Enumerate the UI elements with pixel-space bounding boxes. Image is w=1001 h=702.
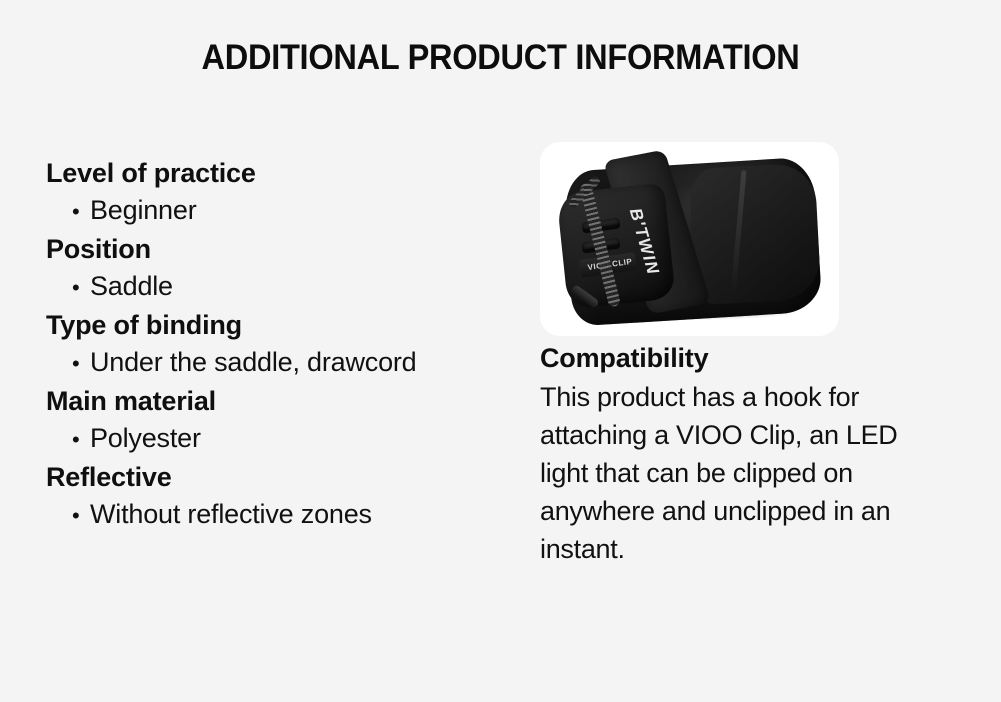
bag-rear-panel (689, 163, 822, 305)
spec-label: Level of practice (46, 155, 541, 191)
bullet-icon: • (72, 421, 90, 459)
spec-value-item: • Under the saddle, drawcord (46, 343, 541, 383)
bullet-icon: • (72, 497, 90, 535)
spec-value-list: • Without reflective zones (46, 495, 541, 535)
spec-group: Type of binding • Under the saddle, draw… (46, 307, 541, 383)
spec-value-list: • Saddle (46, 267, 541, 307)
spec-value-item: • Without reflective zones (46, 495, 541, 535)
spec-value-text: Under the saddle, drawcord (90, 343, 417, 381)
spec-value-text: Beginner (90, 191, 196, 229)
specification-list: Level of practice • Beginner Position • … (46, 155, 541, 535)
spec-group: Level of practice • Beginner (46, 155, 541, 231)
spec-value-item: • Polyester (46, 419, 541, 459)
compatibility-body: This product has a hook for attaching a … (540, 378, 940, 568)
spec-value-list: • Under the saddle, drawcord (46, 343, 541, 383)
spec-label: Reflective (46, 459, 541, 495)
spec-label: Position (46, 231, 541, 267)
spec-value-list: • Beginner (46, 191, 541, 231)
bullet-icon: • (72, 345, 90, 383)
bullet-icon: • (72, 193, 90, 231)
spec-group: Reflective • Without reflective zones (46, 459, 541, 535)
compatibility-title: Compatibility (540, 340, 960, 376)
product-info-page: ADDITIONAL PRODUCT INFORMATION Level of … (0, 0, 1001, 702)
bullet-icon: • (72, 269, 90, 307)
spec-value-list: • Polyester (46, 419, 541, 459)
spec-value-item: • Saddle (46, 267, 541, 307)
spec-label: Type of binding (46, 307, 541, 343)
product-image-card: VIOO CLIP B'TWIN (540, 142, 839, 336)
spec-value-text: Polyester (90, 419, 201, 457)
spec-value-text: Without reflective zones (90, 495, 372, 533)
saddle-bag-illustration: VIOO CLIP B'TWIN (540, 142, 839, 336)
spec-value-item: • Beginner (46, 191, 541, 231)
spec-label: Main material (46, 383, 541, 419)
page-title: ADDITIONAL PRODUCT INFORMATION (35, 38, 966, 78)
spec-group: Position • Saddle (46, 231, 541, 307)
product-image-column: VIOO CLIP B'TWIN (540, 142, 960, 336)
compatibility-block: Compatibility This product has a hook fo… (540, 340, 960, 568)
spec-value-text: Saddle (90, 267, 173, 305)
spec-group: Main material • Polyester (46, 383, 541, 459)
